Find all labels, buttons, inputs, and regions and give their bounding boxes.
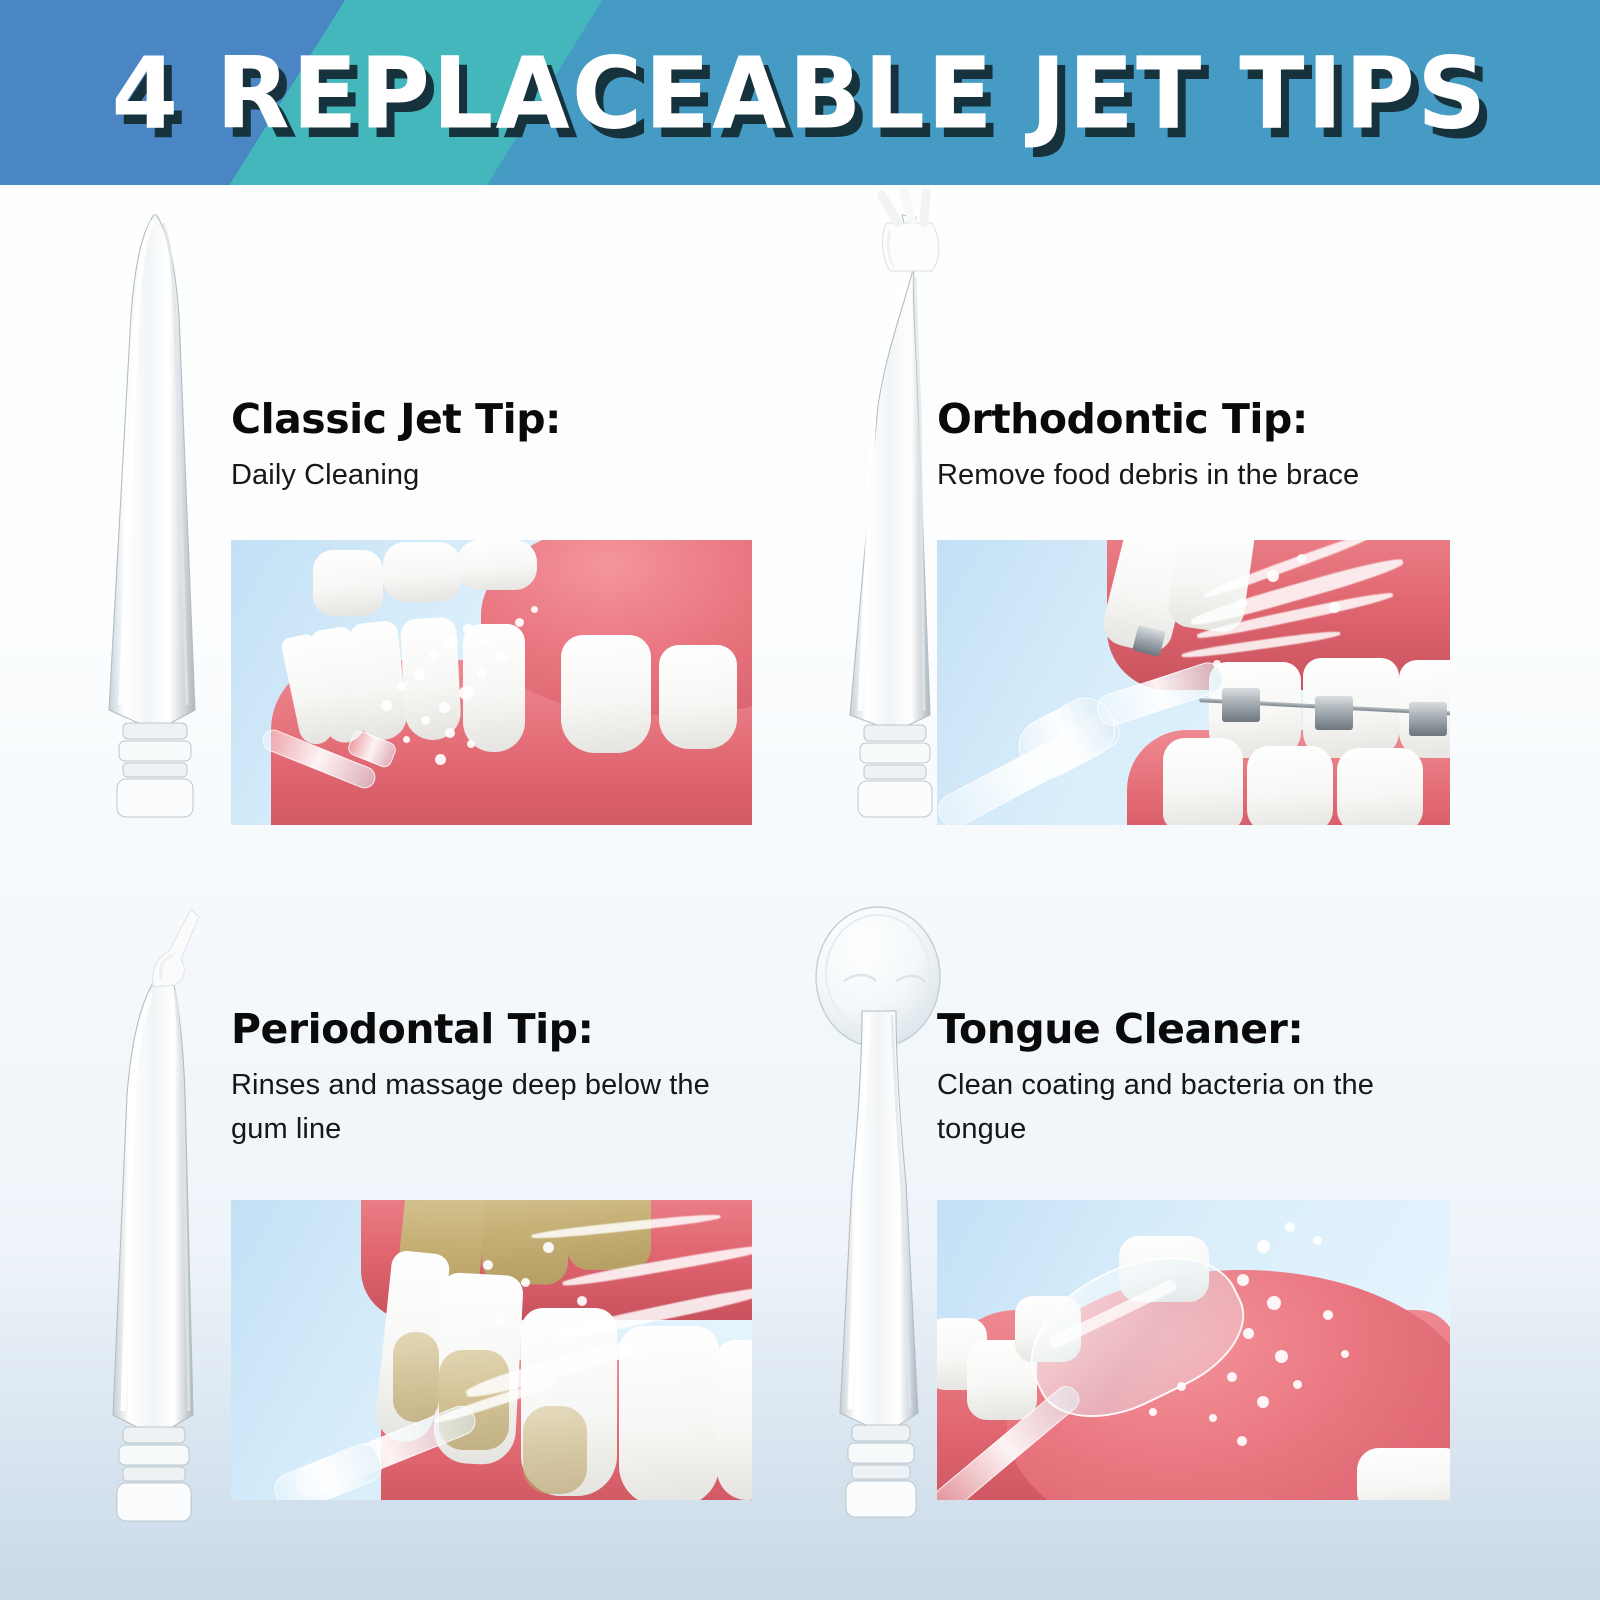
tongue-cleaner-icon bbox=[800, 885, 950, 1525]
braces-water-spray-photo bbox=[937, 540, 1450, 825]
tip-title-tongue-cleaner: Tongue Cleaner: bbox=[937, 1005, 1303, 1053]
periodontal-tip-icon bbox=[95, 895, 215, 1535]
tip-description-tongue-cleaner: Clean coating and bacteria on the tongue bbox=[937, 1063, 1457, 1151]
tip-title-classic-jet-tip: Classic Jet Tip: bbox=[231, 395, 561, 443]
classic-jet-tip-icon bbox=[95, 205, 215, 825]
tip-title-periodontal-tip: Periodontal Tip: bbox=[231, 1005, 593, 1053]
tip-description-classic-jet-tip: Daily Cleaning bbox=[231, 453, 419, 497]
tip-card-orthodontic-tip: Orthodontic Tip: Remove food debris in t… bbox=[800, 185, 1600, 885]
tip-description-periodontal-tip: Rinses and massage deep below the gum li… bbox=[231, 1063, 731, 1151]
tip-card-tongue-cleaner: Tongue Cleaner: Clean coating and bacter… bbox=[800, 885, 1600, 1600]
gumline-water-spray-photo bbox=[231, 1200, 752, 1500]
page-title: 4 REPLACEABLE JET TIPS bbox=[0, 0, 1600, 185]
header-banner: 4 REPLACEABLE JET TIPS bbox=[0, 0, 1600, 185]
orthodontic-tip-icon bbox=[820, 195, 950, 825]
teeth-water-spray-photo bbox=[231, 540, 752, 825]
tip-title-orthodontic-tip: Orthodontic Tip: bbox=[937, 395, 1308, 443]
tongue-scraper-photo bbox=[937, 1200, 1450, 1500]
tip-card-periodontal-tip: Periodontal Tip: Rinses and massage deep… bbox=[0, 885, 800, 1600]
tip-description-orthodontic-tip: Remove food debris in the brace bbox=[937, 453, 1359, 497]
tip-card-classic-jet-tip: Classic Jet Tip: Daily Cleaning bbox=[0, 185, 800, 885]
